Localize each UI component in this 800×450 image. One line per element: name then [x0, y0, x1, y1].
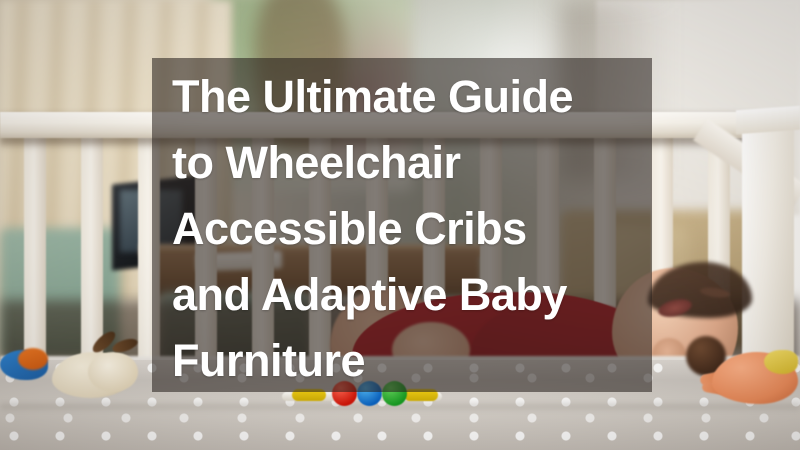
hero-banner: The Ultimate Guide to Wheelchair Accessi… [0, 0, 800, 450]
mattress-fold [0, 404, 800, 412]
toy-orange-accent [18, 348, 48, 370]
plush-animal-head [88, 352, 138, 392]
orange-toy-yellow-wing [764, 350, 798, 374]
crib-post-cap [736, 106, 800, 134]
page-title: The Ultimate Guide to Wheelchair Accessi… [172, 64, 672, 394]
